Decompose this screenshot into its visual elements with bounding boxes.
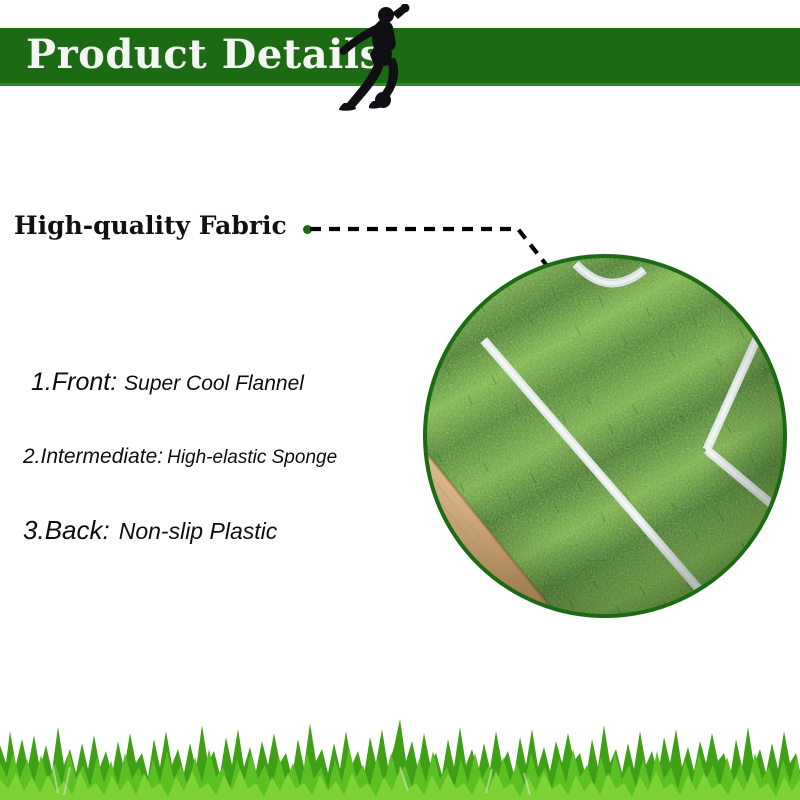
spec-separator: : [103,515,110,545]
spec-name: Back [45,515,103,545]
spec-index: 3. [23,515,45,545]
product-photo-circle [423,254,787,618]
turf-closeup-image [427,258,783,614]
footer-grass-decoration [0,705,800,800]
spec-name: Intermediate [41,445,158,468]
spec-name: Front [52,368,110,396]
spec-separator: : [157,445,163,468]
spec-index: 2. [23,445,41,468]
spec-value: High-elastic Sponge [167,447,337,468]
soccer-player-silhouette-icon [330,4,416,112]
product-details-page: Product Details [0,0,800,800]
spec-separator: : [110,368,117,396]
callout-label: High-quality Fabric [14,211,287,240]
spec-index: 1. [31,368,52,396]
spec-value: Super Cool Flannel [124,372,304,395]
spec-item-front: 1.Front:Super Cool Flannel [31,368,304,397]
spec-value: Non-slip Plastic [119,518,278,544]
spec-item-intermediate: 2.Intermediate:High-elastic Sponge [23,445,337,469]
spec-item-back: 3.Back:Non-slip Plastic [23,515,277,546]
